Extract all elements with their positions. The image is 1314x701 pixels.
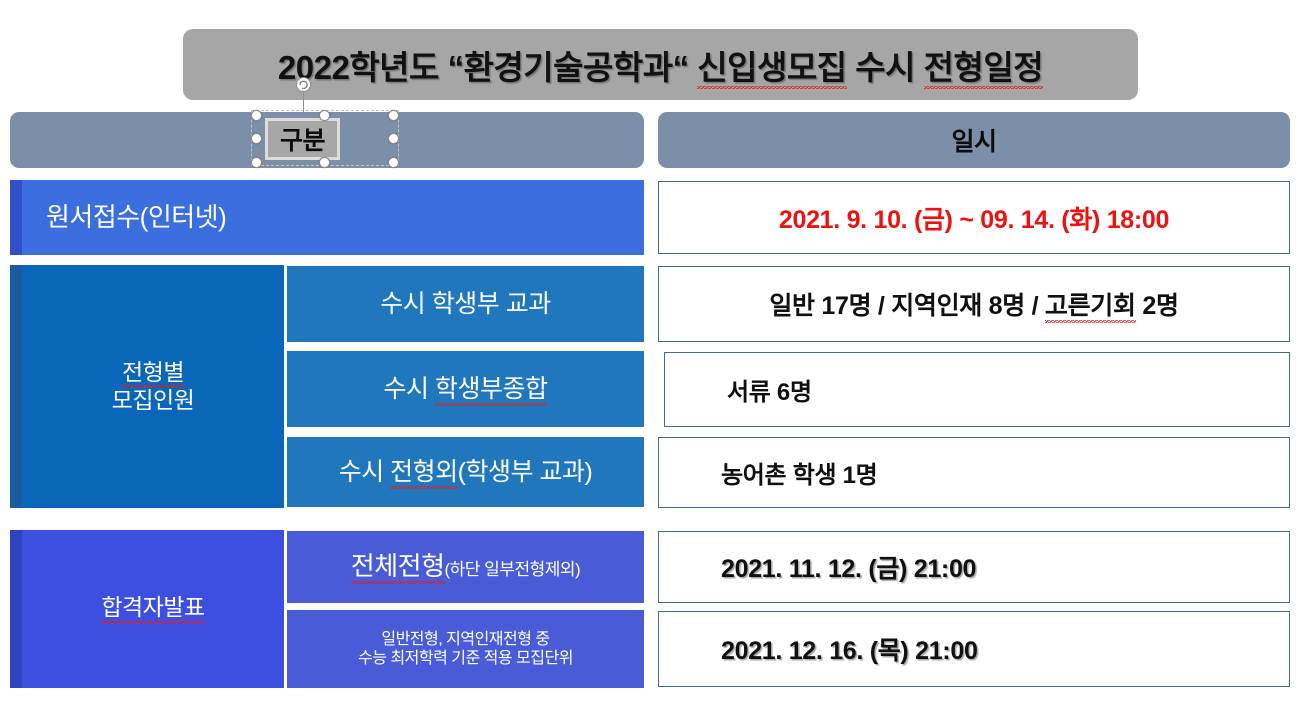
slide-title-text: 2022학년도 “환경기술공학과“ 신입생모집 수시 전형일정 — [278, 41, 1043, 89]
row3-value-text-2: 2021. 12. 16. (목) 21:00 — [721, 631, 978, 667]
row1-category-label: 원서접수(인터넷) — [46, 202, 226, 233]
row2-accent-bar — [10, 265, 22, 508]
slide-title-banner[interactable]: 2022학년도 “환경기술공학과“ 신입생모집 수시 전형일정 — [183, 29, 1138, 100]
row3-subcell-1-suffix: (하단 일부전형제외) — [445, 560, 581, 579]
row3-subcell-2[interactable]: 일반전형, 지역인재전형 중수능 최저학력 기준 적용 모집단위 — [287, 610, 644, 688]
table-header-right-cell[interactable]: 일시 — [658, 112, 1290, 168]
row2-category-cell[interactable]: 전형별모집인원 — [22, 265, 284, 508]
resize-handle-e[interactable] — [388, 133, 399, 144]
slide-canvas: 2022학년도 “환경기술공학과“ 신입생모집 수시 전형일정 일시 구분 원서… — [0, 0, 1314, 701]
resize-handle-ne[interactable] — [388, 110, 399, 121]
row2-value-text-1: 일반 17명 / 지역인재 8명 / 고른기회 2명 — [769, 286, 1178, 322]
row1-category-cell[interactable]: 원서접수(인터넷) — [22, 180, 644, 255]
resize-handle-s[interactable] — [319, 157, 330, 168]
row2-value-box-2[interactable]: 서류 6명 — [664, 352, 1290, 427]
row3-subcell-2-line2: 수능 최저학력 기준 적용 모집단위 — [358, 650, 573, 667]
row3-subcell-1-label: 전체전형(하단 일부전형제외) — [351, 551, 580, 582]
resize-handle-w[interactable] — [251, 133, 262, 144]
row2-category-line1: 전형별 — [122, 359, 184, 388]
rotate-handle-icon[interactable] — [296, 77, 311, 92]
title-segment-misspelled-1: 신입생모집 — [697, 49, 846, 89]
row3-subcell-1-main: 전체전형 — [351, 551, 445, 584]
row3-subcell-2-line1: 일반전형, 지역인재전형 중 — [381, 631, 549, 648]
row3-subcell-2-label: 일반전형, 지역인재전형 중수능 최저학력 기준 적용 모집단위 — [358, 630, 573, 668]
selected-textbox-gubun[interactable]: 구분 — [265, 118, 340, 160]
row2-subcell-2-misspelled: 학생부종합 — [435, 375, 548, 406]
row2-category-line2: 모집인원 — [112, 387, 195, 413]
row2-category-label: 전형별모집인원 — [112, 359, 195, 413]
row2-value-box-3[interactable]: 농어촌 학생 1명 — [658, 437, 1290, 508]
resize-handle-nw[interactable] — [251, 110, 262, 121]
row2-subcell-1-label: 수시 학생부 교과 — [380, 289, 550, 319]
row2-subcell-3-label: 수시 전형외(학생부 교과) — [339, 457, 593, 487]
title-segment-misspelled-2: 전형일정 — [924, 49, 1043, 89]
row3-value-box-1[interactable]: 2021. 11. 12. (금) 21:00 — [658, 531, 1290, 603]
row2-subcell-2[interactable]: 수시 학생부종합 — [287, 351, 644, 427]
resize-handle-se[interactable] — [388, 157, 399, 168]
row3-subcell-1[interactable]: 전체전형(하단 일부전형제외) — [287, 531, 644, 603]
header-label-date: 일시 — [951, 122, 996, 158]
row2-subcell-3-misspelled: 전형외 — [390, 458, 458, 489]
header-label-category: 구분 — [280, 121, 325, 157]
title-segment-plain: 2022학년도 “환경기술공학과“ — [278, 49, 697, 86]
row1-value-box[interactable]: 2021. 9. 10. (금) ~ 09. 14. (화) 18:00 — [658, 181, 1290, 254]
row2-value-text-3: 농어촌 학생 1명 — [721, 455, 877, 490]
row3-category-cell[interactable]: 합격자발표 — [22, 530, 284, 688]
row2-value-text-2: 서류 6명 — [727, 372, 812, 407]
resize-handle-sw[interactable] — [251, 157, 262, 168]
row1-value-text: 2021. 9. 10. (금) ~ 09. 14. (화) 18:00 — [779, 200, 1169, 236]
row1-accent-bar — [10, 180, 22, 255]
row3-value-box-2[interactable]: 2021. 12. 16. (목) 21:00 — [658, 611, 1290, 687]
row3-category-label: 합격자발표 — [101, 594, 204, 624]
row2-subcell-2-label: 수시 학생부종합 — [384, 374, 548, 404]
row2-subcell-3[interactable]: 수시 전형외(학생부 교과) — [287, 437, 644, 507]
row3-value-text-1: 2021. 11. 12. (금) 21:00 — [721, 549, 976, 585]
row2-value-box-1[interactable]: 일반 17명 / 지역인재 8명 / 고른기회 2명 — [658, 266, 1290, 342]
row3-accent-bar — [10, 530, 22, 688]
row2-value-misspelled: 고른기회 — [1045, 292, 1136, 323]
title-segment-middle: 수시 — [847, 49, 924, 86]
row2-subcell-1[interactable]: 수시 학생부 교과 — [287, 266, 644, 342]
resize-handle-n[interactable] — [319, 110, 330, 121]
